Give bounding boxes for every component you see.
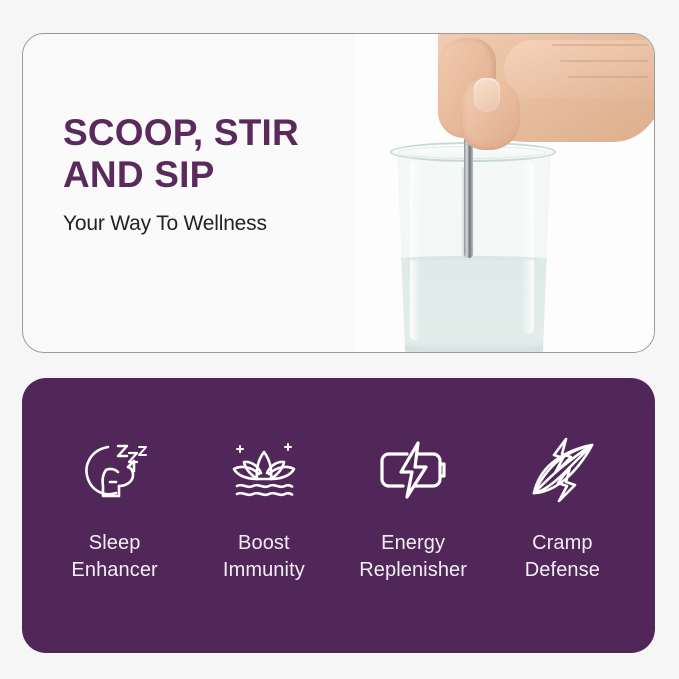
benefit-item-cramp-defense: Cramp Defense <box>488 430 637 584</box>
moon-sleeping-animal-zzz-icon <box>77 430 153 508</box>
benefit-label: Sleep Enhancer <box>71 530 157 584</box>
page-title: SCOOP, STIR AND SIP <box>63 112 363 196</box>
benefit-label: Energy Replenisher <box>359 530 467 584</box>
hero-photo <box>354 34 654 352</box>
finger-crease <box>568 76 648 78</box>
finger-crease <box>560 60 648 62</box>
benefit-item-sleep-enhancer: Sleep Enhancer <box>40 430 189 584</box>
hero-text-block: SCOOP, STIR AND SIP Your Way To Wellness <box>23 34 363 352</box>
hero-subtitle: Your Way To Wellness <box>63 212 363 236</box>
hand-knuckles <box>504 40 654 98</box>
thumbnail <box>474 78 500 112</box>
photo-stage <box>354 34 654 352</box>
battery-lightning-bolt-icon <box>371 430 455 508</box>
benefit-item-boost-immunity: Boost Immunity <box>189 430 338 584</box>
finger-crease <box>552 44 648 46</box>
benefit-item-energy-replenisher: Energy Replenisher <box>339 430 488 584</box>
hero-card: SCOOP, STIR AND SIP Your Way To Wellness <box>22 33 655 353</box>
benefit-label: Boost Immunity <box>223 530 305 584</box>
benefit-label: Cramp Defense <box>525 530 600 584</box>
muscle-lightning-bolt-icon <box>522 430 602 508</box>
benefits-panel: Sleep Enhancer Boost Immunity <box>22 378 655 653</box>
glass-highlight-left <box>410 160 419 340</box>
lotus-flower-water-icon <box>226 430 302 508</box>
glass-highlight-right <box>522 162 534 334</box>
